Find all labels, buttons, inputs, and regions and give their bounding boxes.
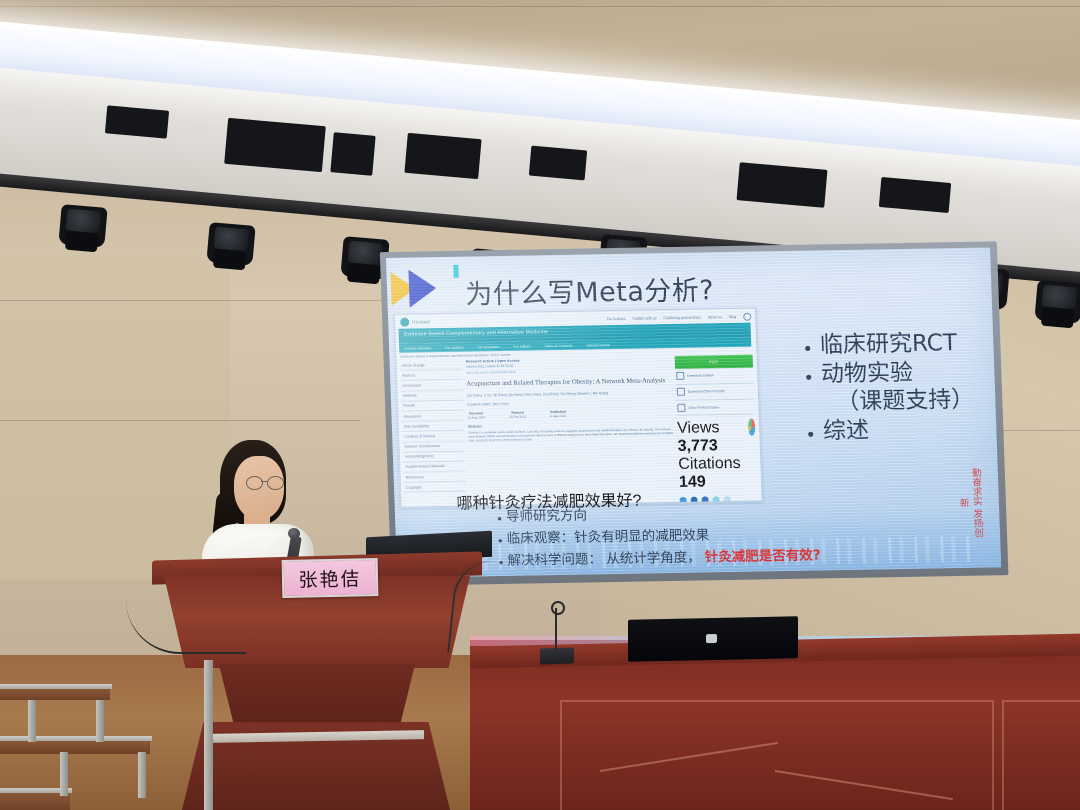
article-dates: Received 31 Aug 2020 Revised 19 Feb 2021…	[467, 408, 672, 420]
citations-value: 149	[679, 474, 706, 491]
bullet-text: 临床研究RCT	[820, 330, 958, 359]
nav-publishing-partnerships[interactable]: Publishing partnerships	[663, 316, 700, 321]
article-body: Article of page Abstract Introduction Me…	[400, 355, 758, 505]
glasses-lens-left	[246, 476, 263, 490]
menu-journal-overview[interactable]: Journal overview	[404, 346, 431, 350]
podium-column	[208, 664, 426, 726]
bullet-text: （课题支持）	[836, 387, 975, 416]
step-tread	[0, 688, 110, 700]
order-printed-copies-link[interactable]: Order Printed Copies	[676, 399, 755, 416]
abstract-text: Obesity is a worldwide public health pro…	[468, 427, 673, 443]
ac-vent	[529, 146, 587, 181]
pdf-button-label: PDF	[709, 359, 718, 364]
projection-screen: 为什么写Meta分析? Hindawi For Authors Publish …	[386, 247, 1001, 577]
nav-for-authors[interactable]: For Authors	[607, 317, 626, 321]
menu-for-editors[interactable]: For editors	[513, 344, 530, 348]
wood-panel-chevron	[600, 770, 950, 800]
ac-vent	[879, 177, 951, 213]
menu-for-authors[interactable]: For authors	[445, 345, 464, 349]
slide-title: 为什么写Meta分析?	[465, 268, 715, 311]
spotlight-lens	[348, 241, 384, 266]
nav-publish-with-us[interactable]: Publish with us	[632, 316, 656, 320]
wall-seam	[0, 6, 1080, 7]
article-metrics: Views 3,773 Citations 149	[677, 419, 758, 492]
list-item: • 动物实验	[805, 358, 1001, 388]
calligraphy-motto: 勤奋求实 发扬创新	[952, 466, 985, 540]
date-received-value: 31 Aug 2020	[468, 416, 486, 420]
views-value: 3,773	[677, 438, 718, 456]
podium: 张艳佶	[152, 556, 482, 810]
bullet-marker: ●	[498, 536, 503, 545]
article-title: Acupuncture and Related Therapies for Ob…	[466, 377, 671, 389]
spotlight-lens	[66, 209, 102, 234]
gooseneck-microphone	[555, 608, 557, 652]
menu-table-of-contents[interactable]: Table of Contents	[544, 343, 572, 347]
article-side-panel: PDF Download Citation Download Other For…	[675, 355, 758, 500]
ac-vent	[224, 118, 326, 172]
date-received: Received 31 Aug 2020	[467, 412, 485, 420]
glasses-icon	[246, 476, 284, 488]
bullet-text: 临床观察：针灸有明显的减肥效果	[506, 523, 709, 547]
bullet-marker: ●	[497, 514, 502, 523]
date-published: Published 6 Mar 2021	[550, 410, 566, 418]
hindawi-logo: Hindawi	[400, 317, 430, 327]
hindawi-mark-icon	[400, 318, 409, 327]
date-revised: Revised 19 Feb 2021	[509, 411, 527, 419]
citation-icon	[676, 372, 684, 380]
nav-blog[interactable]: Blog	[729, 315, 736, 319]
step-edge	[0, 736, 152, 741]
slide-surface: 为什么写Meta分析? Hindawi For Authors Publish …	[386, 247, 1001, 577]
slide-right-bullets: • 临床研究RCT • 动物实验 （课题支持） • 综述	[764, 329, 1001, 448]
ac-vent	[330, 132, 375, 176]
bullet-text: 综述	[823, 418, 870, 445]
stage-monitor	[628, 616, 798, 662]
bullet-marker: •	[804, 340, 811, 359]
site-top-nav: For Authors Publish with us Publishing p…	[607, 313, 752, 324]
download-citation-link[interactable]: Download Citation	[675, 368, 754, 385]
altmetric-donut-icon[interactable]	[748, 419, 755, 436]
search-icon[interactable]	[743, 313, 751, 321]
step-tread	[0, 740, 150, 754]
nameplate: 张艳佶	[282, 558, 379, 598]
wood-panel	[1002, 700, 1080, 810]
metric-views: Views 3,773 Citations 149	[677, 419, 751, 492]
list-item: ● 解决科学问题： 从统计学角度， 针灸减肥是否有效?	[498, 543, 821, 569]
date-revised-value: 19 Feb 2021	[509, 415, 527, 419]
blue-chevron-icon	[408, 269, 436, 307]
bullet-marker: •	[805, 368, 812, 387]
presentation-photo-scene: 为什么写Meta分析? Hindawi For Authors Publish …	[0, 0, 1080, 810]
bullet-text: 解决科学问题： 从统计学角度，	[507, 546, 701, 569]
menu-for-reviewers[interactable]: For reviewers	[477, 345, 499, 349]
ac-vent	[737, 162, 828, 208]
bullet-highlight-text: 针灸减肥是否有效?	[704, 543, 821, 565]
step-leg	[96, 700, 104, 742]
bullet-marker: •	[807, 426, 814, 445]
download-citation-label: Download Citation	[687, 374, 714, 378]
stage-rail-post	[204, 660, 213, 810]
list-item: （课题支持）	[806, 386, 1001, 416]
citations-label: Citations	[678, 455, 741, 473]
download-other-formats-link[interactable]: Download Other Formats	[676, 383, 755, 400]
ac-vent	[404, 133, 481, 179]
stage-spotlight	[58, 204, 107, 248]
article-editor: Academic Editor: Jian-Li Gao	[467, 399, 672, 407]
wall-seam	[0, 420, 360, 421]
download-other-formats-label: Download Other Formats	[688, 389, 725, 394]
list-item: • 综述	[807, 415, 1001, 445]
menu-special-issues[interactable]: Special Issues	[586, 343, 609, 347]
journal-title: Evidence-Based Complementary and Alterna…	[404, 329, 549, 338]
article-authors: Jun Zhang, Li Xu, Yiji Zhang, Qiu Wang, …	[467, 390, 672, 398]
embedded-article-screenshot: Hindawi For Authors Publish with us Publ…	[394, 308, 763, 508]
article-main: Research Article | Open Access Volume 20…	[466, 356, 676, 503]
step-leg	[60, 752, 68, 796]
ac-vent	[105, 105, 169, 138]
formats-icon	[677, 388, 685, 396]
nav-about-us[interactable]: About us	[708, 315, 722, 319]
bullet-text: 动物实验	[821, 359, 914, 387]
spotlight-lens	[214, 227, 250, 252]
slide-highlight-line-2: 哪种针灸疗法减肥效果好?	[456, 487, 642, 514]
nameplate-text: 张艳佶	[298, 564, 362, 592]
date-published-value: 6 Mar 2021	[550, 414, 566, 418]
article-section-nav: Article of page Abstract Introduction Me…	[400, 360, 467, 505]
order-printed-copies-label: Order Printed Copies	[688, 405, 719, 410]
step-leg	[138, 752, 146, 798]
stage-spotlight	[1034, 280, 1080, 324]
spotlight-lens	[1042, 285, 1078, 310]
breadcrumb: Evidence-Based Complementary and Alterna…	[400, 353, 510, 359]
wall-seam	[0, 300, 400, 301]
step-leg	[28, 700, 36, 742]
hindawi-wordmark: Hindawi	[412, 319, 430, 324]
list-item: • 临床研究RCT	[804, 329, 1001, 359]
print-icon	[677, 404, 685, 412]
stage-spotlight	[206, 222, 255, 266]
teal-accent-icon	[453, 265, 458, 278]
views-label: Views	[677, 420, 720, 438]
gooseneck-microphone-base	[540, 647, 574, 664]
glasses-lens-right	[267, 476, 284, 490]
article-doi[interactable]: https://doi.org/10.1155/2021/6678168	[466, 367, 671, 375]
step-edge	[0, 684, 112, 689]
list-item: ● 临床观察：针灸有明显的减肥效果	[497, 521, 820, 547]
